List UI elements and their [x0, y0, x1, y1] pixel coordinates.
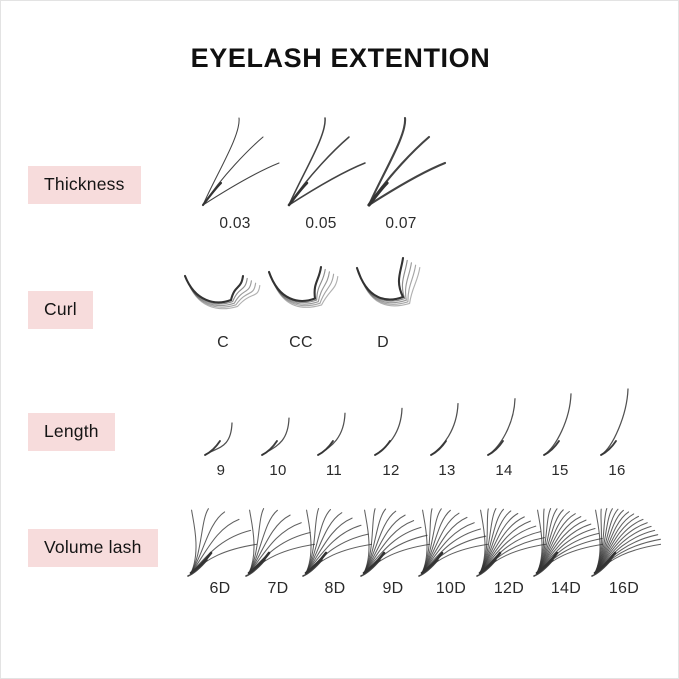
length-specimen-12[interactable]: 12 — [365, 381, 417, 479]
volume-specimen-16D[interactable]: 16D — [587, 491, 661, 598]
length-specimen-14[interactable]: 14 — [478, 381, 530, 479]
length-caption: 16 — [591, 462, 643, 479]
lash-volume-fan-icon — [587, 491, 661, 579]
lash-single-icon — [534, 381, 586, 461]
row-label-thickness: Thickness — [28, 166, 141, 204]
curl-specimen-D[interactable]: D — [335, 246, 431, 352]
length-caption: 11 — [308, 462, 360, 479]
thickness-caption: 0.03 — [187, 215, 283, 233]
lash-single-icon — [365, 381, 417, 461]
length-caption: 9 — [195, 462, 247, 479]
row-label-length: Length — [28, 413, 115, 451]
length-specimen-15[interactable]: 15 — [534, 381, 586, 479]
length-specimen-13[interactable]: 13 — [421, 381, 473, 479]
row-curl: Curl CCCD — [1, 246, 679, 366]
lash-single-icon — [195, 381, 247, 461]
row-length: Length 910111213141516 — [1, 381, 679, 481]
curl-caption: D — [335, 334, 431, 352]
lash-single-icon — [591, 381, 643, 461]
length-specimen-16[interactable]: 16 — [591, 381, 643, 479]
length-caption: 14 — [478, 462, 530, 479]
length-specimen-10[interactable]: 10 — [252, 381, 304, 479]
length-caption: 15 — [534, 462, 586, 479]
row-label-curl: Curl — [28, 291, 93, 329]
lash-fan-thickness-icon — [187, 111, 283, 213]
lash-single-icon — [308, 381, 360, 461]
eyelash-extension-chart: EYELASH EXTENTION Thickness 0.030.050.07… — [0, 0, 679, 679]
thickness-specimen-0.07[interactable]: 0.07 — [353, 111, 449, 233]
row-label-volume: Volume lash — [28, 529, 158, 567]
length-specimen-11[interactable]: 11 — [308, 381, 360, 479]
length-caption: 13 — [421, 462, 473, 479]
length-specimen-9[interactable]: 9 — [195, 381, 247, 479]
lash-single-icon — [478, 381, 530, 461]
thickness-specimen-0.03[interactable]: 0.03 — [187, 111, 283, 233]
length-caption: 12 — [365, 462, 417, 479]
lash-single-icon — [421, 381, 473, 461]
lash-single-icon — [252, 381, 304, 461]
lash-curl-icon — [335, 246, 431, 330]
page-title: EYELASH EXTENTION — [1, 43, 679, 74]
length-caption: 10 — [252, 462, 304, 479]
volume-caption: 16D — [587, 580, 661, 598]
thickness-caption: 0.07 — [353, 215, 449, 233]
row-volume: Volume lash 6D7D8D9D10D12D14D16D — [1, 491, 679, 606]
lash-fan-thickness-icon — [353, 111, 449, 213]
row-thickness: Thickness 0.030.050.07 — [1, 111, 679, 241]
